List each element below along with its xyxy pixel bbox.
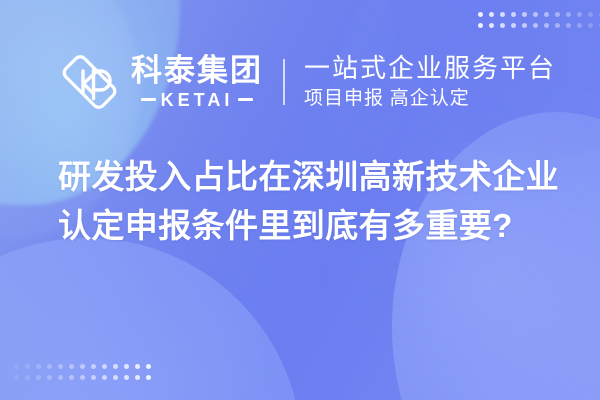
dot (500, 23, 505, 28)
dot-row (478, 12, 600, 17)
dot-row (478, 23, 600, 28)
dot-grid-bottomleft (14, 364, 151, 380)
dot-grid-topright (478, 12, 600, 28)
tagline-main: 一站式企业服务平台 (304, 53, 556, 84)
dot (47, 375, 52, 380)
dot (533, 12, 538, 17)
dot (58, 364, 63, 369)
dot (489, 12, 494, 17)
dot (135, 364, 140, 369)
dot (146, 375, 151, 380)
dot (533, 23, 538, 28)
dot (124, 375, 129, 380)
dot (113, 375, 118, 380)
brand-name-en: KETAI (161, 91, 234, 109)
dot (102, 364, 107, 369)
dot (36, 375, 41, 380)
dot (47, 364, 52, 369)
brand-text: 科泰集团 KETAI (131, 55, 263, 109)
banner-header: 科泰集团 KETAI 一站式企业服务平台 项目申报 高企认定 (0, 44, 600, 120)
dot (25, 375, 30, 380)
page-title-line-1: 研发投入占比在深圳高新技术企业 (58, 152, 558, 201)
dot (14, 364, 19, 369)
dot (577, 23, 582, 28)
brand-lockup: 科泰集团 KETAI (60, 52, 263, 112)
dot (124, 364, 129, 369)
dot (522, 23, 527, 28)
dot (478, 23, 483, 28)
brand-name-cn: 科泰集团 (131, 55, 263, 88)
tagline-sub: 项目申报 高企认定 (304, 87, 556, 111)
brand-dash-right-icon (238, 98, 253, 101)
page-title-line-2: 认定申报条件里到底有多重要? (58, 201, 558, 250)
dot (80, 375, 85, 380)
brand-dash-left-icon (141, 98, 156, 101)
dot (544, 23, 549, 28)
header-divider (283, 59, 285, 105)
dot-row (14, 364, 151, 369)
ketai-logo-icon (60, 52, 120, 112)
page-title: 研发投入占比在深圳高新技术企业 认定申报条件里到底有多重要? (58, 152, 558, 250)
dot (566, 12, 571, 17)
dot (500, 12, 505, 17)
dot (522, 12, 527, 17)
dot (511, 23, 516, 28)
dot (113, 364, 118, 369)
dot (478, 12, 483, 17)
dot (146, 364, 151, 369)
dot (566, 23, 571, 28)
dot (36, 364, 41, 369)
dot (80, 364, 85, 369)
dot (69, 375, 74, 380)
dot (555, 23, 560, 28)
brand-name-en-row: KETAI (131, 91, 263, 109)
dot (588, 12, 593, 17)
dot (58, 375, 63, 380)
dot (544, 12, 549, 17)
dot (102, 375, 107, 380)
dot (577, 12, 582, 17)
dot (91, 375, 96, 380)
dot (555, 12, 560, 17)
dot (69, 364, 74, 369)
dot (135, 375, 140, 380)
tagline-block: 一站式企业服务平台 项目申报 高企认定 (304, 53, 556, 110)
promo-banner: 科泰集团 KETAI 一站式企业服务平台 项目申报 高企认定 研发投入占比在深圳… (0, 0, 600, 400)
dot (25, 364, 30, 369)
dot (588, 23, 593, 28)
dot-row (14, 375, 151, 380)
dot (91, 364, 96, 369)
dot (489, 23, 494, 28)
dot (14, 375, 19, 380)
dot (511, 12, 516, 17)
